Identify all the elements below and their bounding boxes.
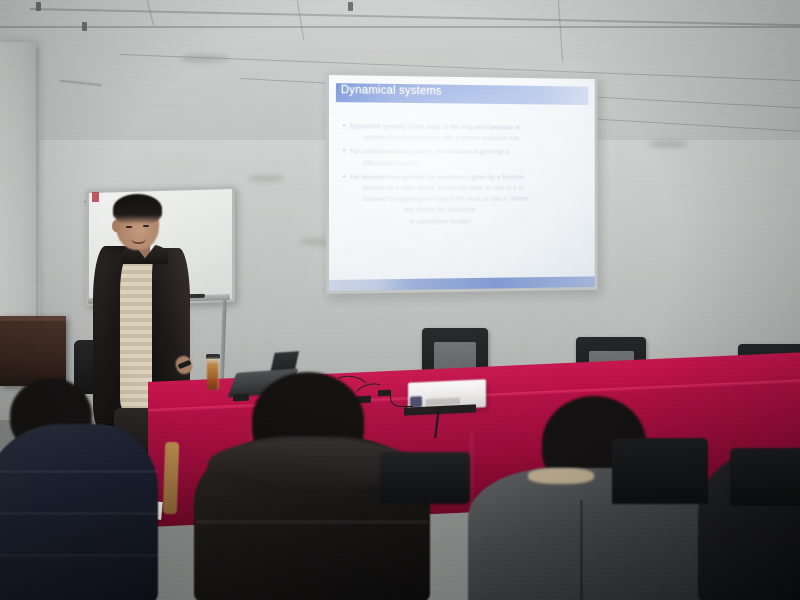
- bullet-marker-icon: ▪: [343, 146, 350, 157]
- seminar-room-photo: Dynamical systems ▪ Dynamical systems is…: [0, 0, 800, 600]
- ceiling-hanger: [82, 22, 87, 31]
- jacket-seam: [0, 512, 158, 515]
- bullet-marker-icon: ▪: [343, 121, 350, 132]
- wall-mark: [648, 140, 688, 148]
- jacket-seam: [0, 554, 158, 557]
- slide-body: ▪ Dynamical systems is the study of the …: [343, 121, 582, 231]
- power-cable: [390, 392, 413, 407]
- cabinet-top-edge: [0, 316, 66, 321]
- presenter-hair: [113, 194, 162, 224]
- jacket-seam: [0, 470, 158, 473]
- bullet-body: Dynamical systems is the study of the lo…: [350, 121, 521, 144]
- ceiling-tile-line: [0, 26, 800, 28]
- jacket-seam: [196, 520, 428, 524]
- projection-screen: Dynamical systems ▪ Dynamical systems is…: [326, 72, 598, 294]
- slide-title: Dynamical systems: [341, 84, 442, 97]
- slide-footer-subject: Metric Realization Approximation in Topo…: [448, 78, 578, 85]
- slide-footer-author: Ting Chen: [411, 77, 433, 83]
- tea-glass[interactable]: [207, 358, 219, 390]
- bullet-body: For discrete-time systems the evolution …: [350, 172, 528, 228]
- bullet-line: differential equation: [350, 158, 509, 169]
- whiteboard-marker-icon: [188, 294, 205, 298]
- slide-bullet: ▪ For continuous-time systems the evolut…: [343, 146, 582, 169]
- wall-mark: [180, 54, 230, 63]
- conference-chair[interactable]: [612, 438, 708, 504]
- bullet-body: For continuous-time systems the evolutio…: [350, 147, 509, 170]
- slide-surface: Dynamical systems ▪ Dynamical systems is…: [329, 75, 595, 291]
- bullet-line: For discrete-time systems the evolution …: [350, 172, 528, 183]
- jacket-seam: [580, 500, 583, 600]
- slide-bullet: ▪ For discrete-time systems the evolutio…: [343, 172, 582, 228]
- slide-footer-bar: [329, 276, 595, 291]
- bullet-line: systems that evolve in time with a known…: [350, 132, 521, 144]
- wall-mark: [248, 175, 284, 182]
- slide-bullet: ▪ Dynamical systems is the study of the …: [343, 121, 582, 145]
- conference-chair[interactable]: [730, 448, 800, 506]
- bullet-line: For continuous-time systems the evolutio…: [350, 147, 509, 159]
- conference-chair[interactable]: [380, 452, 470, 504]
- ceiling-hanger: [348, 2, 353, 11]
- wooden-cabinet: [0, 316, 66, 386]
- bullet-line: obtained by applying the map to the stat…: [350, 194, 528, 205]
- laptop-mouse[interactable]: [233, 394, 249, 402]
- bullet-line: of successive iterates: [350, 216, 528, 228]
- bullet-line: the orbit is the sequence: [350, 205, 528, 217]
- attendee-collar: [528, 468, 594, 484]
- bullet-line: iterated on a state space, so that the s…: [350, 183, 528, 194]
- bullet-marker-icon: ▪: [343, 172, 350, 183]
- ceiling-hanger: [36, 2, 41, 11]
- wooden-chair-arm: [163, 442, 180, 514]
- whiteboard-magnet-icon: [92, 192, 99, 202]
- wooden-chair-arm: [160, 440, 200, 452]
